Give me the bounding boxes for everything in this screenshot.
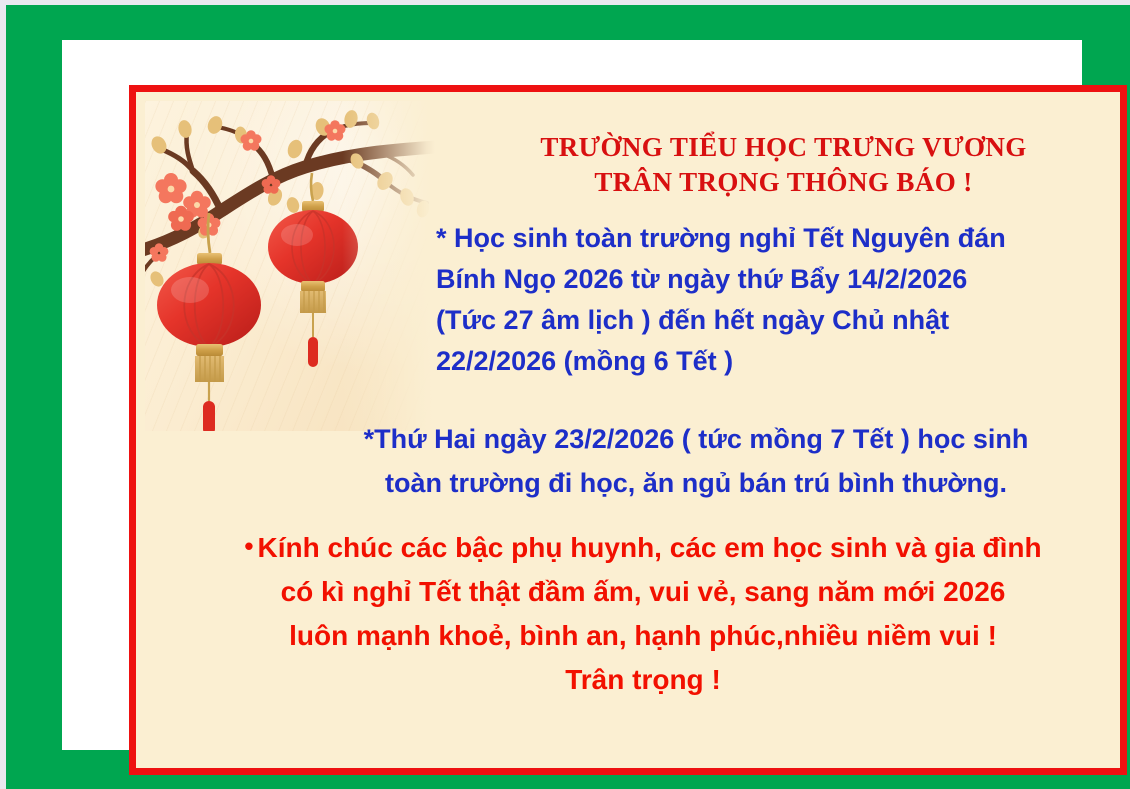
tet-lantern-illustration: [145, 101, 435, 431]
lantern-front: [157, 213, 261, 431]
notice-secondary: *Thứ Hai ngày 23/2/2026 ( tức mồng 7 Tết…: [276, 417, 1116, 505]
notice-secondary-line-1: *Thứ Hai ngày 23/2/2026 ( tức mồng 7 Tết…: [276, 417, 1116, 461]
notice-secondary-line-2: toàn trường đi học, ăn ngủ bán trú bình …: [276, 461, 1116, 505]
wishes-block: •Kính chúc các bậc phụ huynh, các em học…: [188, 524, 1098, 702]
lantern-branch-graphic: [145, 101, 435, 431]
artwork-background: [145, 101, 435, 431]
wishes-line-3: luôn mạnh khoẻ, bình an, hạnh phúc,nhiều…: [188, 614, 1098, 658]
blossom-branch: [145, 123, 435, 285]
bullet-icon: •: [244, 531, 253, 561]
poster-root: TRƯỜNG TIỂU HỌC TRƯNG VƯƠNG TRÂN TRỌNG T…: [0, 0, 1130, 789]
headline-line-2: TRÂN TRỌNG THÔNG BÁO !: [456, 165, 1111, 200]
notice-primary-line-3: (Tức 27 âm lịch ) đến hết ngày Chủ nhật: [436, 300, 1116, 341]
white-inner-frame: TRƯỜNG TIỂU HỌC TRƯNG VƯƠNG TRÂN TRỌNG T…: [62, 40, 1082, 750]
green-outer-frame: TRƯỜNG TIỂU HỌC TRƯNG VƯƠNG TRÂN TRỌNG T…: [6, 5, 1130, 789]
lantern-rear: [268, 173, 358, 367]
branch-buds: [148, 109, 431, 289]
notice-primary-line-1: * Học sinh toàn trường nghỉ Tết Nguyên đ…: [436, 218, 1116, 259]
page-title: TRƯỜNG TIỂU HỌC TRƯNG VƯƠNG TRÂN TRỌNG T…: [456, 130, 1111, 200]
wishes-line-1-text: Kính chúc các bậc phụ huynh, các em học …: [257, 532, 1041, 563]
notice-primary: * Học sinh toàn trường nghỉ Tết Nguyên đ…: [436, 218, 1116, 382]
headline-line-1: TRƯỜNG TIỂU HỌC TRƯNG VƯƠNG: [456, 130, 1111, 165]
announcement-canvas: TRƯỜNG TIỂU HỌC TRƯNG VƯƠNG TRÂN TRỌNG T…: [136, 92, 1120, 768]
wishes-line-4: Trân trọng !: [188, 658, 1098, 702]
apricot-blossoms: [150, 120, 346, 262]
notice-primary-line-2: Bính Ngọ 2026 từ ngày thứ Bẩy 14/2/2026: [436, 259, 1116, 300]
wishes-line-2: có kì nghỉ Tết thật đầm ấm, vui vẻ, sang…: [188, 570, 1098, 614]
red-border-frame: TRƯỜNG TIỂU HỌC TRƯNG VƯƠNG TRÂN TRỌNG T…: [129, 85, 1127, 775]
wishes-line-1: •Kính chúc các bậc phụ huynh, các em học…: [188, 524, 1098, 570]
artwork-edge-fade: [145, 101, 435, 431]
notice-primary-line-4: 22/2/2026 (mồng 6 Tết ): [436, 341, 1116, 382]
